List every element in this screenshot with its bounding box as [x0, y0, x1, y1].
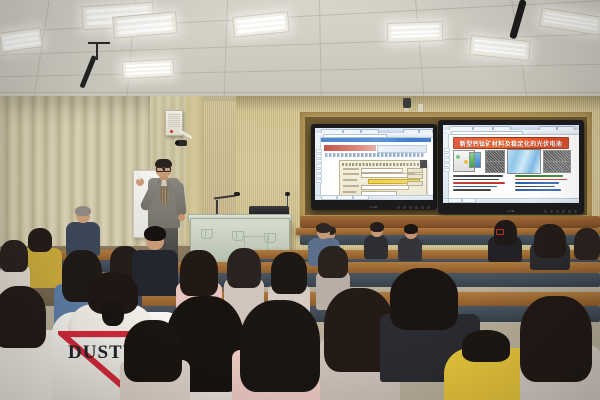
tv-brand-logo: LCD [370, 205, 377, 209]
right-display-screen[interactable]: 新型钙钛矿材料及稳定化的光伏电池 [443, 125, 579, 203]
slide-title-banner: 新型钙钛矿材料及稳定化的光伏电池 [453, 137, 569, 149]
browser-address-bar[interactable] [451, 131, 523, 136]
presenter-hair [155, 159, 172, 167]
page-banner-right [377, 145, 427, 153]
attendee-hair [316, 223, 331, 233]
taskbar-item[interactable] [337, 195, 353, 200]
form-label [343, 173, 359, 175]
attendee-hair [28, 228, 52, 252]
page-heading-text [325, 153, 425, 157]
attendee [120, 320, 190, 400]
speaker-grille [168, 113, 180, 127]
caption-line-highlight [515, 179, 567, 181]
sidebar-item[interactable] [316, 179, 322, 183]
caption-line [453, 186, 497, 188]
attendee-hair [271, 252, 307, 294]
attendee-hair [370, 222, 384, 232]
sidebar-item[interactable] [316, 164, 322, 168]
slide-title-text: 新型钙钛矿材料及稳定化的光伏电池 [460, 139, 562, 148]
ceiling-light-fixture [387, 21, 444, 43]
attendee-pink [232, 300, 328, 400]
sem-micrograph-figure [485, 161, 505, 173]
attendee-hair [124, 320, 182, 382]
form-label [343, 168, 359, 170]
glasses-icon [496, 229, 504, 235]
attendee-hair [390, 268, 458, 330]
sidebar-item[interactable] [316, 174, 322, 178]
close-icon[interactable] [420, 160, 427, 168]
sidebar-item[interactable] [444, 168, 450, 172]
attendee [574, 228, 600, 268]
caption-line [453, 175, 503, 177]
ptz-camera-icon [403, 98, 411, 108]
form-input[interactable] [361, 185, 409, 190]
attendee-hair [318, 246, 348, 278]
sem-micrograph-figure [543, 161, 571, 173]
attendee [530, 224, 570, 266]
left-display-screen[interactable] [315, 128, 433, 200]
attendee-torso [364, 235, 388, 259]
ceiling-light-fixture [122, 59, 175, 80]
taskbar-item[interactable] [353, 195, 369, 200]
microphone-icon [234, 192, 240, 196]
sidebar-item[interactable] [316, 149, 322, 153]
form-label [343, 185, 359, 187]
blue-layer-figure [474, 152, 481, 168]
camera-lens-icon [175, 141, 179, 145]
glasses-icon [156, 167, 171, 170]
left-display[interactable]: LCD [311, 124, 437, 210]
attendee-hair [520, 296, 592, 382]
form-label [343, 179, 357, 181]
caption-line [453, 179, 499, 181]
caption-line [515, 189, 561, 191]
attendee [398, 224, 422, 258]
dialog-button[interactable] [407, 168, 423, 173]
attendee-with-glasses [488, 220, 522, 260]
presenter-left-hand [178, 214, 185, 221]
ceiling-mount-bar [88, 42, 110, 44]
right-display[interactable]: 新型钙钛矿材料及稳定化的光伏电池 [438, 120, 584, 214]
dialog-button[interactable] [407, 181, 423, 186]
tv-brand-logo: LCD [507, 209, 514, 213]
sidebar-item[interactable] [316, 169, 322, 173]
sidebar-item[interactable] [444, 148, 450, 152]
page-navbar [321, 138, 431, 142]
attendee [364, 222, 388, 256]
form-dialog[interactable] [339, 160, 427, 198]
dialog-title-text [342, 163, 424, 166]
speaker-led [170, 130, 173, 133]
taskbar-item[interactable] [462, 198, 476, 203]
presenter-left-arm [173, 182, 186, 217]
layer-stack-figure [507, 149, 541, 174]
attendee-hair [240, 300, 320, 392]
sidebar-item[interactable] [444, 163, 450, 167]
attendee-hair [404, 224, 418, 234]
attendee-hair [574, 228, 600, 260]
form-label [343, 191, 356, 193]
attendee-hair [534, 224, 566, 258]
caption-line [515, 175, 563, 177]
dialog-button[interactable] [407, 174, 423, 179]
page-sidebar[interactable] [315, 137, 321, 196]
page-sidebar[interactable] [443, 134, 449, 199]
caption-line [515, 182, 559, 184]
attendee-hair [144, 226, 166, 241]
taskbar-item[interactable] [321, 195, 337, 200]
caption-line-highlight [453, 182, 505, 184]
taskbar-item[interactable] [448, 198, 462, 203]
sidebar-item[interactable] [316, 159, 322, 163]
caption-line [515, 186, 555, 188]
attendee-hair-grey [75, 206, 91, 216]
sidebar-item[interactable] [316, 154, 322, 158]
lecture-hall-photo: LCD 新型钙钛矿材料及稳定化的光伏电池 [0, 0, 600, 400]
tv-control-buttons[interactable] [397, 206, 431, 209]
tv-control-buttons[interactable] [544, 210, 578, 213]
attendee-hair [462, 330, 510, 362]
attendee-torso [398, 237, 422, 261]
university-crest-icon [231, 229, 243, 240]
attendee-hair [0, 240, 28, 272]
attendee [520, 296, 600, 400]
sidebar-item[interactable] [444, 158, 450, 162]
caption-line [453, 189, 491, 191]
glasses-bridge [162, 168, 165, 169]
sidebar-item[interactable] [444, 153, 450, 157]
attendee-hair [227, 248, 261, 288]
university-crest-icon [200, 227, 212, 238]
attendee-grey-hair [66, 206, 100, 254]
microphone-icon [285, 192, 290, 196]
page-banner [324, 145, 376, 151]
